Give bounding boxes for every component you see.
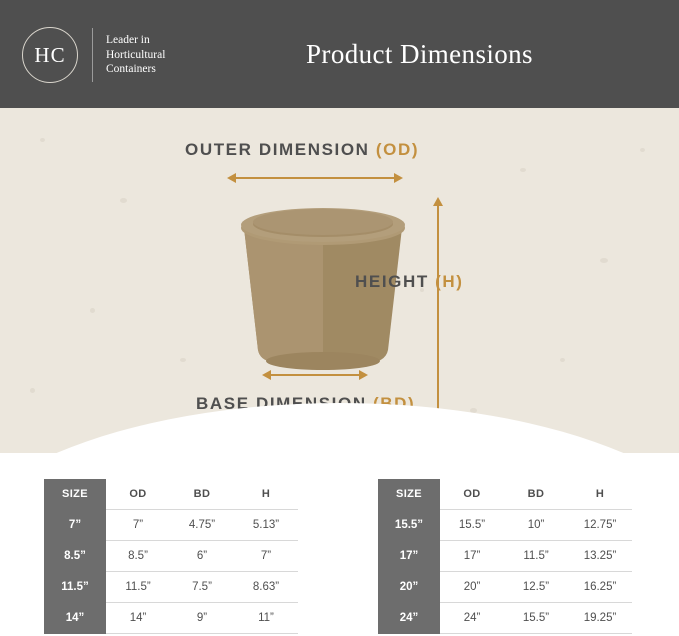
header-h: H: [234, 479, 298, 510]
cell-od: 8.5”: [106, 541, 170, 572]
height-label: HEIGHT (H): [355, 272, 464, 292]
planter-illustration: [228, 200, 418, 385]
cell-od: 15.5”: [440, 510, 504, 541]
table-row: 11.5” 11.5” 7.5” 8.63”: [44, 572, 298, 603]
cell-bd: 11.5”: [504, 541, 568, 572]
cell-h: 7”: [234, 541, 298, 572]
header-bd: BD: [170, 479, 234, 510]
dimension-table-left: SIZE OD BD H 7” 7” 4.75” 5.13” 8.5” 8.5”…: [44, 479, 298, 634]
cell-size: 20”: [378, 572, 440, 603]
texture-speckle: [90, 308, 95, 313]
cell-od: 20”: [440, 572, 504, 603]
table-row: 8.5” 8.5” 6” 7”: [44, 541, 298, 572]
texture-speckle: [180, 358, 186, 362]
header-od: OD: [440, 479, 504, 510]
cell-od: 24”: [440, 603, 504, 634]
texture-speckle: [640, 148, 645, 152]
table-header-row: SIZE OD BD H: [44, 479, 298, 510]
cell-size: 17”: [378, 541, 440, 572]
cell-bd: 12.5”: [504, 572, 568, 603]
header-bd: BD: [504, 479, 568, 510]
header-size: SIZE: [44, 479, 106, 510]
cell-size: 7”: [44, 510, 106, 541]
product-dimensions-page: HC Leader in Horticultural Containers Pr…: [0, 0, 679, 636]
cell-bd: 10”: [504, 510, 568, 541]
cell-h: 16.25”: [568, 572, 632, 603]
cell-od: 17”: [440, 541, 504, 572]
cell-bd: 15.5”: [504, 603, 568, 634]
cell-od: 11.5”: [106, 572, 170, 603]
od-arrow-icon: [235, 177, 395, 179]
header-od: OD: [106, 479, 170, 510]
table-header-row: SIZE OD BD H: [378, 479, 632, 510]
cell-h: 19.25”: [568, 603, 632, 634]
page-title: Product Dimensions: [0, 0, 679, 108]
cell-h: 5.13”: [234, 510, 298, 541]
cell-size: 15.5”: [378, 510, 440, 541]
header-size: SIZE: [378, 479, 440, 510]
texture-speckle: [600, 258, 608, 263]
texture-speckle: [30, 388, 35, 393]
table-row: 20” 20” 12.5” 16.25”: [378, 572, 632, 603]
texture-speckle: [120, 198, 127, 203]
table-row: 15.5” 15.5” 10” 12.75”: [378, 510, 632, 541]
cell-size: 14”: [44, 603, 106, 634]
table-row: 17” 17” 11.5” 13.25”: [378, 541, 632, 572]
cell-size: 11.5”: [44, 572, 106, 603]
diagram-panel: OUTER DIMENSION (OD) HEIGHT (H) BASE: [0, 108, 679, 453]
bd-arrow-icon: [270, 374, 360, 376]
cell-h: 12.75”: [568, 510, 632, 541]
cell-h: 13.25”: [568, 541, 632, 572]
cell-h: 11”: [234, 603, 298, 634]
cell-h: 8.63”: [234, 572, 298, 603]
cell-bd: 4.75”: [170, 510, 234, 541]
band-curve-divider: [0, 403, 679, 453]
texture-speckle: [560, 358, 565, 362]
cell-od: 14”: [106, 603, 170, 634]
page-header: HC Leader in Horticultural Containers Pr…: [0, 0, 679, 108]
dimension-tables: SIZE OD BD H 7” 7” 4.75” 5.13” 8.5” 8.5”…: [0, 453, 679, 636]
header-h: H: [568, 479, 632, 510]
od-label-accent: (OD): [376, 140, 419, 159]
cell-bd: 6”: [170, 541, 234, 572]
cell-bd: 9”: [170, 603, 234, 634]
od-label: OUTER DIMENSION (OD): [185, 140, 419, 160]
table-row: 7” 7” 4.75” 5.13”: [44, 510, 298, 541]
cell-size: 8.5”: [44, 541, 106, 572]
cell-size: 24”: [378, 603, 440, 634]
texture-speckle: [40, 138, 45, 142]
texture-speckle: [520, 168, 526, 172]
cell-od: 7”: [106, 510, 170, 541]
height-label-text: HEIGHT: [355, 272, 435, 291]
table-row: 24” 24” 15.5” 19.25”: [378, 603, 632, 634]
cell-bd: 7.5”: [170, 572, 234, 603]
table-row: 14” 14” 9” 11”: [44, 603, 298, 634]
dimension-table-right: SIZE OD BD H 15.5” 15.5” 10” 12.75” 17” …: [378, 479, 632, 634]
height-label-accent: (H): [435, 272, 463, 291]
od-label-text: OUTER DIMENSION: [185, 140, 376, 159]
